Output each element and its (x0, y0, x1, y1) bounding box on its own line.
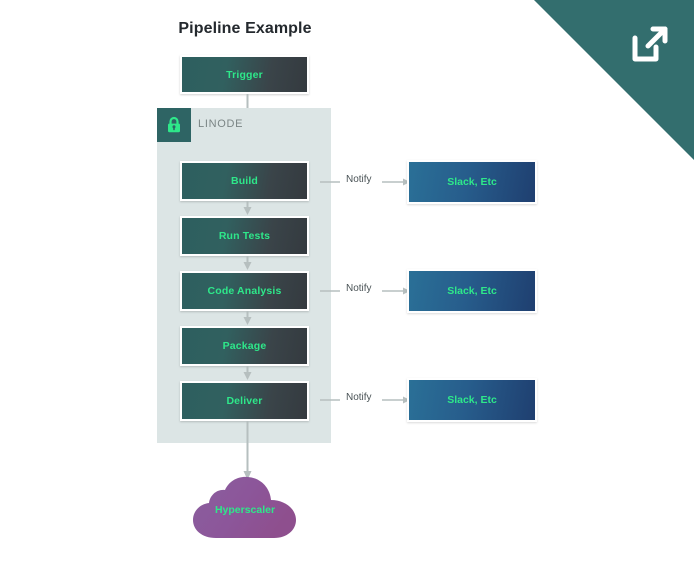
node-notify-target-3[interactable]: Slack, Etc (407, 378, 537, 422)
node-notify-target-2[interactable]: Slack, Etc (407, 269, 537, 313)
arrow-deliver-to-hyperscaler (243, 421, 252, 481)
node-code-analysis-label: Code Analysis (208, 285, 282, 297)
arrow-runtests-to-codeanalysis (243, 256, 252, 271)
node-package[interactable]: Package (180, 326, 309, 366)
arrow-package-to-deliver (243, 366, 252, 381)
connector-notify-codeanalysis-text-wrap: Notify (320, 283, 410, 299)
node-package-label: Package (223, 340, 267, 352)
node-deliver-label: Deliver (226, 395, 262, 407)
arrow-build-to-runtests (243, 201, 252, 216)
node-notify-target-2-label: Slack, Etc (447, 285, 497, 297)
node-build[interactable]: Build (180, 161, 309, 201)
node-run-tests-label: Run Tests (219, 230, 270, 242)
connector-notify-build-text-wrap: Notify (320, 174, 410, 190)
node-hyperscaler[interactable] (192, 476, 298, 540)
node-trigger[interactable]: Trigger (180, 55, 309, 94)
notify-label-2: Notify (346, 283, 372, 294)
connector-notify-deliver-text-wrap: Notify (320, 392, 410, 408)
node-notify-target-1-label: Slack, Etc (447, 176, 497, 188)
linode-region-label: LINODE (198, 118, 243, 130)
page-title: Pipeline Example (0, 20, 490, 38)
node-deliver[interactable]: Deliver (180, 381, 309, 421)
lock-icon (164, 115, 184, 135)
node-run-tests[interactable]: Run Tests (180, 216, 309, 256)
node-notify-target-1[interactable]: Slack, Etc (407, 160, 537, 204)
node-build-label: Build (231, 175, 258, 187)
diagram-canvas: Pipeline Example Trigger LINODE Build Ru… (0, 0, 694, 565)
notify-label-3: Notify (346, 392, 372, 403)
arrow-codeanalysis-to-package (243, 311, 252, 326)
node-notify-target-3-label: Slack, Etc (447, 394, 497, 406)
node-code-analysis[interactable]: Code Analysis (180, 271, 309, 311)
notify-label-1: Notify (346, 174, 372, 185)
external-link-icon[interactable] (628, 22, 672, 66)
node-trigger-label: Trigger (226, 69, 263, 81)
lock-badge (157, 108, 191, 142)
